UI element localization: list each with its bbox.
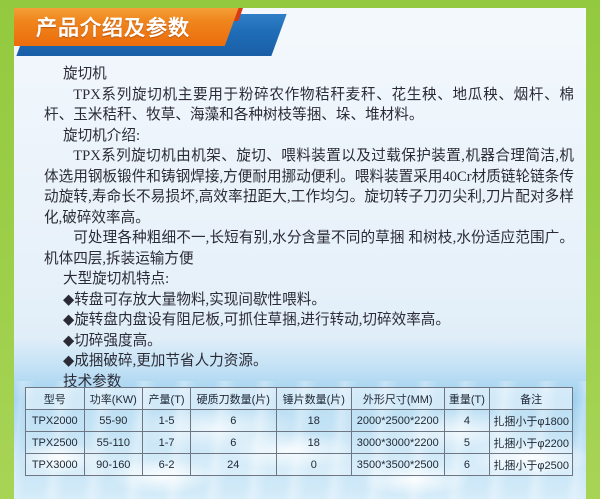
- table-row: TPX2500 55-110 1-7 6 18 3000*3000*2200 5…: [26, 432, 573, 454]
- section-banner: 产品介绍及参数: [14, 6, 586, 62]
- col-header-weight: 重量(T): [444, 388, 490, 410]
- heading-introduction: 旋切机介绍:: [44, 126, 574, 147]
- cell-power: 90-160: [84, 454, 143, 476]
- cell-dimensions: 2000*2500*2200: [352, 410, 444, 432]
- spec-table-body: TPX2000 55-90 1-5 6 18 2000*2500*2200 4 …: [26, 410, 573, 476]
- banner-orange-tail: [14, 6, 36, 46]
- feature-item: ◆旋转盘内盘设有阻尼板,可抓住草捆,进行转动,切碎效率高。: [44, 310, 574, 331]
- page-title: 产品介绍及参数: [36, 12, 190, 42]
- feature-item: ◆成捆破碎,更加节省人力资源。: [44, 351, 574, 372]
- cell-remark: 扎捆小于φ2200: [490, 432, 573, 454]
- cell-hammer: 0: [276, 454, 352, 476]
- cell-hard-blade: 6: [191, 410, 276, 432]
- cell-output: 6-2: [143, 454, 191, 476]
- table-row: TPX2000 55-90 1-5 6 18 2000*2500*2200 4 …: [26, 410, 573, 432]
- cell-weight: 5: [444, 432, 490, 454]
- table-row: TPX3000 90-160 6-2 24 0 3500*3500*2500 6…: [26, 454, 573, 476]
- heading-machine-name: 旋切机: [44, 64, 574, 85]
- cell-remark: 扎捆小于φ2500: [490, 454, 573, 476]
- product-description: 旋切机 TPX系列旋切机主要用于粉碎农作物秸秆麦秆、花生秧、地瓜秧、烟杆、棉杆、…: [44, 64, 574, 392]
- cell-weight: 6: [444, 454, 490, 476]
- heading-features: 大型旋切机特点:: [44, 269, 574, 290]
- col-header-output: 产量(T): [143, 388, 191, 410]
- table-header-row: 型号 功率(KW) 产量(T) 硬质刀数量(片) 锤片数量(片) 外形尺寸(MM…: [26, 388, 573, 410]
- page-root: 产品介绍及参数 旋切机 TPX系列旋切机主要用于粉碎农作物秸秆麦秆、花生秧、地瓜…: [0, 0, 600, 499]
- cell-hammer: 18: [276, 410, 352, 432]
- spec-table-head: 型号 功率(KW) 产量(T) 硬质刀数量(片) 锤片数量(片) 外形尺寸(MM…: [26, 388, 573, 410]
- col-header-remark: 备注: [490, 388, 573, 410]
- cell-dimensions: 3500*3500*2500: [352, 454, 444, 476]
- feature-item: ◆切碎强度高。: [44, 331, 574, 352]
- cell-hard-blade: 24: [191, 454, 276, 476]
- cell-model: TPX2000: [26, 410, 85, 432]
- col-header-hard-blade: 硬质刀数量(片): [191, 388, 276, 410]
- col-header-dimensions: 外形尺寸(MM): [352, 388, 444, 410]
- cell-model: TPX3000: [26, 454, 85, 476]
- cell-output: 1-5: [143, 410, 191, 432]
- feature-item: ◆转盘可存放大量物料,实现间歇性喂料。: [44, 290, 574, 311]
- paragraph-usage: TPX系列旋切机主要用于粉碎农作物秸秆麦秆、花生秧、地瓜秧、烟杆、棉杆、玉米秸秆…: [44, 85, 574, 126]
- paragraph-introduction: TPX系列旋切机由机架、旋切、喂料装置以及过载保护装置,机器合理简洁,机体选用钢…: [44, 146, 574, 228]
- cell-dimensions: 3000*3000*2200: [352, 432, 444, 454]
- cell-remark: 扎捆小于φ1800: [490, 410, 573, 432]
- col-header-power: 功率(KW): [84, 388, 143, 410]
- col-header-hammer: 锤片数量(片): [276, 388, 352, 410]
- cell-model: TPX2500: [26, 432, 85, 454]
- col-header-model: 型号: [26, 388, 85, 410]
- content-card: 产品介绍及参数 旋切机 TPX系列旋切机主要用于粉碎农作物秸秆麦秆、花生秧、地瓜…: [14, 0, 586, 499]
- cell-power: 55-90: [84, 410, 143, 432]
- cell-hard-blade: 6: [191, 432, 276, 454]
- cell-hammer: 18: [276, 432, 352, 454]
- spec-table-wrapper: 型号 功率(KW) 产量(T) 硬质刀数量(片) 锤片数量(片) 外形尺寸(MM…: [25, 387, 573, 476]
- cell-power: 55-110: [84, 432, 143, 454]
- cell-output: 1-7: [143, 432, 191, 454]
- spec-table: 型号 功率(KW) 产量(T) 硬质刀数量(片) 锤片数量(片) 外形尺寸(MM…: [25, 387, 573, 476]
- cell-weight: 4: [444, 410, 490, 432]
- paragraph-capability: 可处理各种粗细不一,长短有别,水分含量不同的草捆 和树枝,水份适应范围广。机体四…: [44, 228, 574, 269]
